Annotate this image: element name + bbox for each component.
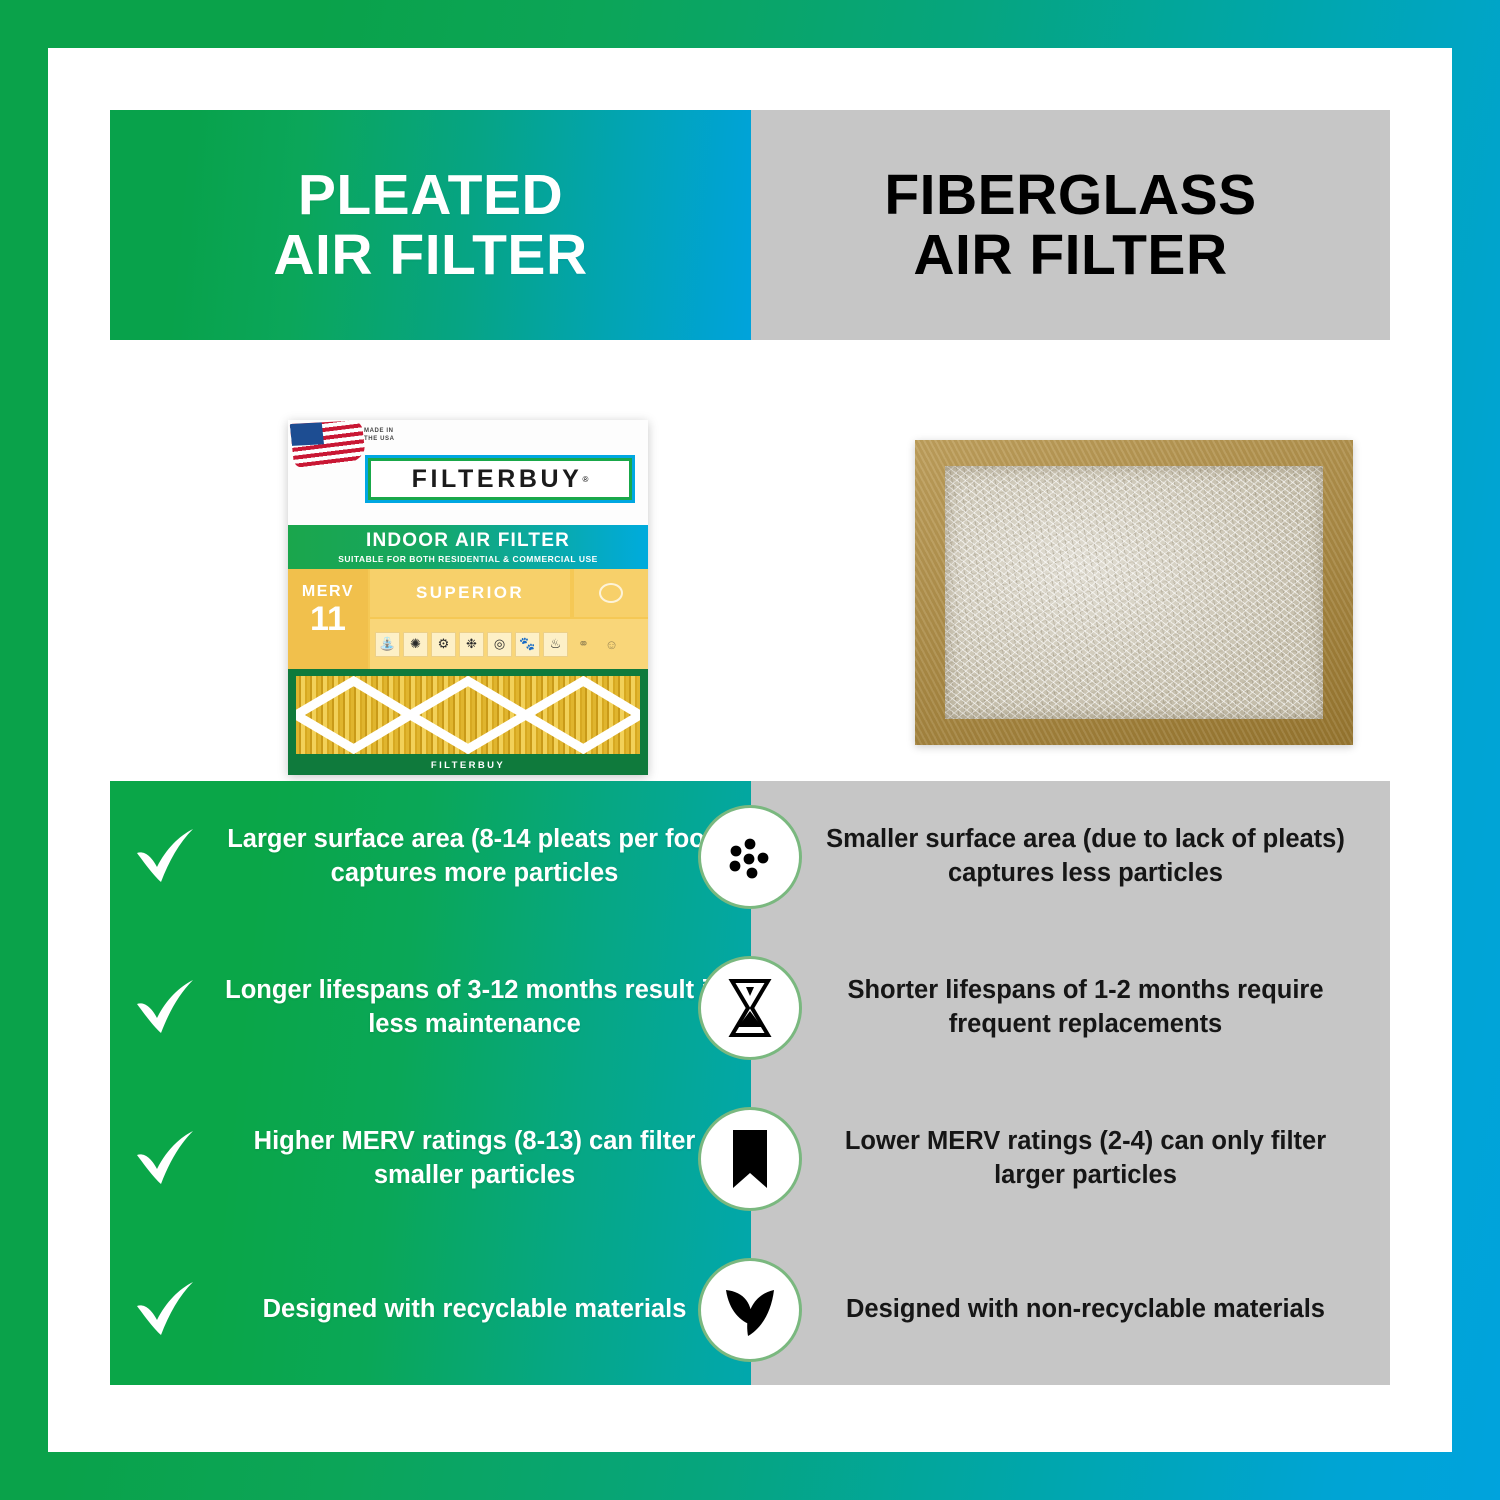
merv-label: MERV: [288, 583, 368, 601]
product-box-card: MADE IN THE USA FILTERBUY® INDOOR AIR FI…: [288, 420, 648, 775]
comparison-rows: Larger surface area (8-14 pleats per foo…: [110, 781, 1390, 1385]
checkmark-icon: [132, 978, 198, 1038]
comparison-panel: Larger surface area (8-14 pleats per foo…: [110, 781, 1390, 1385]
row-right-cell: Shorter lifespans of 1-2 months require …: [751, 974, 1390, 1040]
row-left-cell: Higher MERV ratings (8-13) can filter sm…: [110, 1125, 751, 1191]
page-canvas: PLEATED AIR FILTER FIBERGLASS AIR FILTER…: [48, 48, 1452, 1452]
box-top-section: MADE IN THE USA FILTERBUY®: [288, 420, 648, 525]
brand-name: FILTERBUY: [412, 465, 583, 494]
bookmark-icon: [704, 1113, 796, 1205]
usa-flag-icon: [290, 420, 367, 468]
row-right-text: Designed with non-recyclable materials: [821, 1293, 1350, 1326]
header-pleated: PLEATED AIR FILTER: [110, 110, 751, 340]
fiberglass-mesh-texture: [945, 466, 1323, 719]
checkmark-icon: [132, 1129, 198, 1189]
row-left-text: Designed with recyclable materials: [212, 1293, 737, 1326]
pleated-filter-media: FILTERBUY: [288, 669, 648, 775]
pleat-texture: [296, 676, 640, 754]
lint-icon: ⚭: [571, 632, 596, 657]
brand-logo-frame: FILTERBUY®: [368, 458, 632, 500]
comparison-row: Designed with recyclable materials Desig…: [110, 1234, 1390, 1385]
fiberglass-filter-product-image: [915, 440, 1353, 745]
hourglass-icon: [704, 962, 796, 1054]
comparison-row: Higher MERV ratings (8-13) can filter sm…: [110, 1083, 1390, 1234]
support-lattice-icon: [296, 676, 640, 754]
box-merv-section: MERV 11 SUPERIOR ⛲ ✺ ⚙ ❉ ◎: [288, 569, 648, 669]
row-right-text: Smaller surface area (due to lack of ple…: [821, 823, 1350, 889]
product-images-row: MADE IN THE USA FILTERBUY® INDOOR AIR FI…: [110, 340, 1390, 780]
comparison-row: Longer lifespans of 3-12 months result i…: [110, 932, 1390, 1083]
box-product-band: INDOOR AIR FILTER SUITABLE FOR BOTH RESI…: [288, 525, 648, 569]
comparison-row: Larger surface area (8-14 pleats per foo…: [110, 781, 1390, 932]
band-subtitle: SUITABLE FOR BOTH RESIDENTIAL & COMMERCI…: [288, 554, 648, 564]
pleated-filter-product-image: MADE IN THE USA FILTERBUY® INDOOR AIR FI…: [288, 415, 648, 775]
brand-trademark-symbol: ®: [582, 475, 588, 484]
tier-label: SUPERIOR: [370, 569, 570, 617]
ul-certification-icon: [574, 569, 648, 617]
leaf-icon: [704, 1264, 796, 1356]
mold-spore-icon: ⚙: [431, 632, 456, 657]
dust-icon: ⛲: [375, 632, 400, 657]
row-right-text: Lower MERV ratings (2-4) can only filter…: [821, 1125, 1350, 1191]
row-left-cell: Larger surface area (8-14 pleats per foo…: [110, 823, 751, 889]
row-right-text: Shorter lifespans of 1-2 months require …: [821, 974, 1350, 1040]
particles-icon: [704, 811, 796, 903]
row-left-text: Longer lifespans of 3-12 months result i…: [212, 974, 737, 1040]
checkmark-icon: [132, 827, 198, 887]
row-right-cell: Designed with non-recyclable materials: [751, 1293, 1390, 1326]
virus-icon: ◎: [487, 632, 512, 657]
row-left-text: Larger surface area (8-14 pleats per foo…: [212, 823, 737, 889]
merv-badge: MERV 11: [288, 569, 368, 669]
filtration-icon-strip: ⛲ ✺ ⚙ ❉ ◎ 🐾 ♨ ⚭ ☺: [370, 619, 648, 669]
bacteria-icon: ❉: [459, 632, 484, 657]
merv-value: 11: [288, 603, 368, 635]
pet-dander-icon: 🐾: [515, 632, 540, 657]
row-right-cell: Lower MERV ratings (2-4) can only filter…: [751, 1125, 1390, 1191]
made-in-usa-label: MADE IN THE USA: [364, 427, 395, 443]
header-pleated-title: PLEATED AIR FILTER: [273, 165, 587, 286]
header-fiberglass: FIBERGLASS AIR FILTER: [751, 110, 1390, 340]
checkmark-icon: [132, 1280, 198, 1340]
header-fiberglass-title: FIBERGLASS AIR FILTER: [884, 165, 1256, 286]
row-left-cell: Designed with recyclable materials: [110, 1280, 751, 1340]
odor-icon: ☺: [599, 632, 624, 657]
band-title: INDOOR AIR FILTER: [288, 530, 648, 552]
row-left-text: Higher MERV ratings (8-13) can filter sm…: [212, 1125, 737, 1191]
filter-footer-brand: FILTERBUY: [288, 760, 648, 771]
header-bar: PLEATED AIR FILTER FIBERGLASS AIR FILTER: [110, 110, 1390, 340]
row-left-cell: Longer lifespans of 3-12 months result i…: [110, 974, 751, 1040]
row-right-cell: Smaller surface area (due to lack of ple…: [751, 823, 1390, 889]
ul-ring-shape: [599, 583, 623, 603]
smoke-icon: ♨: [543, 632, 568, 657]
pollen-icon: ✺: [403, 632, 428, 657]
outer-gradient-border: PLEATED AIR FILTER FIBERGLASS AIR FILTER…: [0, 0, 1500, 1500]
